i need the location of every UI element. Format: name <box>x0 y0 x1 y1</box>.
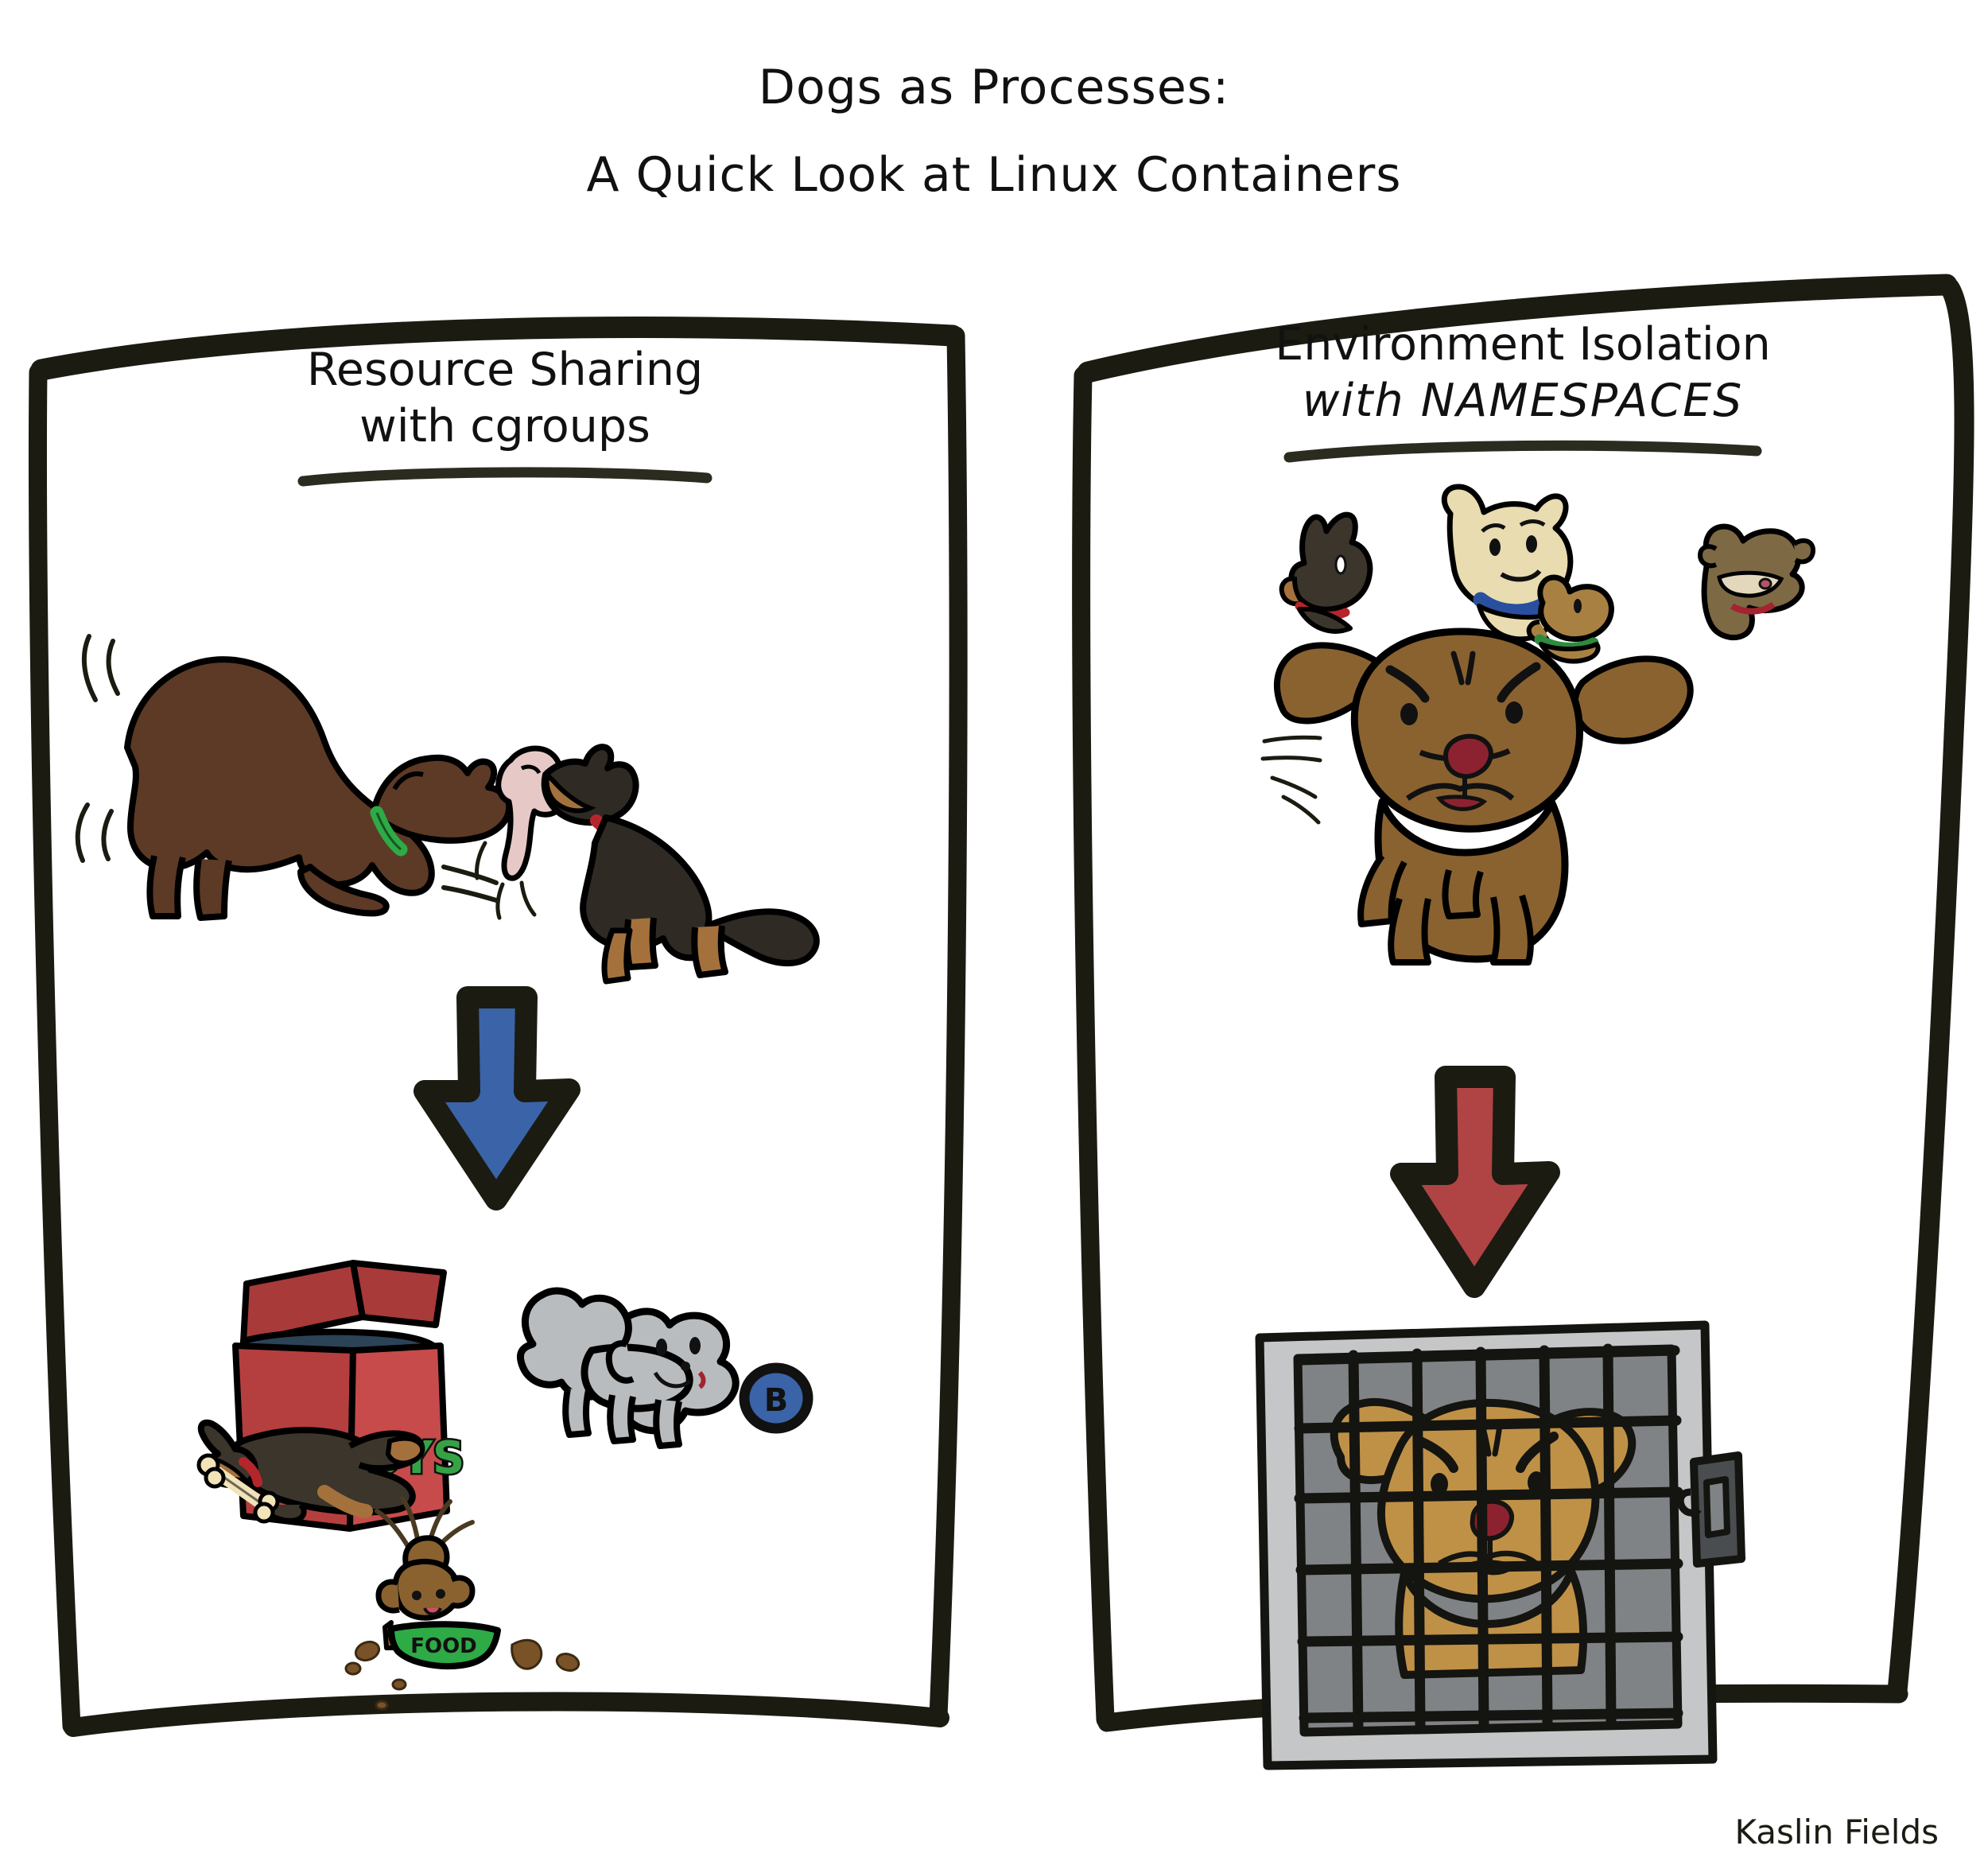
blue-ball-label: B <box>764 1382 789 1419</box>
dog-awareness-scene <box>1248 485 1853 946</box>
panel-heading-namespaces: Environment Isolation with NAMESPACES <box>1066 317 1980 462</box>
panel-cgroups: Resource Sharing with cgroups <box>24 270 986 1782</box>
comic-title: Dogs as Processes: A Quick Look at Linux… <box>0 48 1988 231</box>
panel-heading-cgroups: Resource Sharing with cgroups <box>24 342 986 488</box>
heading-underline <box>1284 441 1761 462</box>
down-arrow-blue <box>406 986 588 1217</box>
tug-of-war-scene <box>72 604 891 938</box>
tan-puppy-head <box>1529 577 1612 661</box>
angry-brown-dog <box>1263 631 1691 962</box>
panel-heading-line-1: Environment Isolation <box>1066 317 1980 373</box>
brown-dog <box>127 659 509 918</box>
artist-signature: Kaslin Fields <box>1734 1813 1939 1852</box>
title-line-2: A Quick Look at Linux Containers <box>586 147 1401 203</box>
title-line-1: Dogs as Processes: <box>759 60 1229 115</box>
heading-underline <box>298 467 712 488</box>
panel-namespaces: Environment Isolation with NAMESPACES <box>1066 270 1980 1782</box>
doberman-head <box>1282 515 1370 631</box>
down-arrow-red <box>1384 1066 1567 1304</box>
gray-poodle <box>520 1291 736 1446</box>
blue-ball: B <box>744 1368 808 1428</box>
brown-puppy-eating: FOOD <box>346 1498 580 1709</box>
comic-canvas: Dogs as Processes: A Quick Look at Linux… <box>0 0 1988 1869</box>
food-bowl: FOOD <box>391 1624 498 1666</box>
tail-motion-lines <box>1263 737 1320 822</box>
panel-heading-line-2: with NAMESPACES <box>1066 373 1980 429</box>
title-text-svg: Dogs as Processes: A Quick Look at Linux… <box>0 48 1988 231</box>
dog-crate <box>1260 1325 1741 1766</box>
bulldog-head <box>1700 527 1813 638</box>
shared-resources-scene: TOYS <box>87 1249 914 1694</box>
panel-heading-line-2: with cgroups <box>24 398 986 455</box>
doberman-with-bone <box>199 1423 422 1521</box>
panel-heading-line-1: Resource Sharing <box>24 342 986 398</box>
food-bowl-label: FOOD <box>410 1634 477 1658</box>
crate-scene <box>1248 1320 1757 1789</box>
